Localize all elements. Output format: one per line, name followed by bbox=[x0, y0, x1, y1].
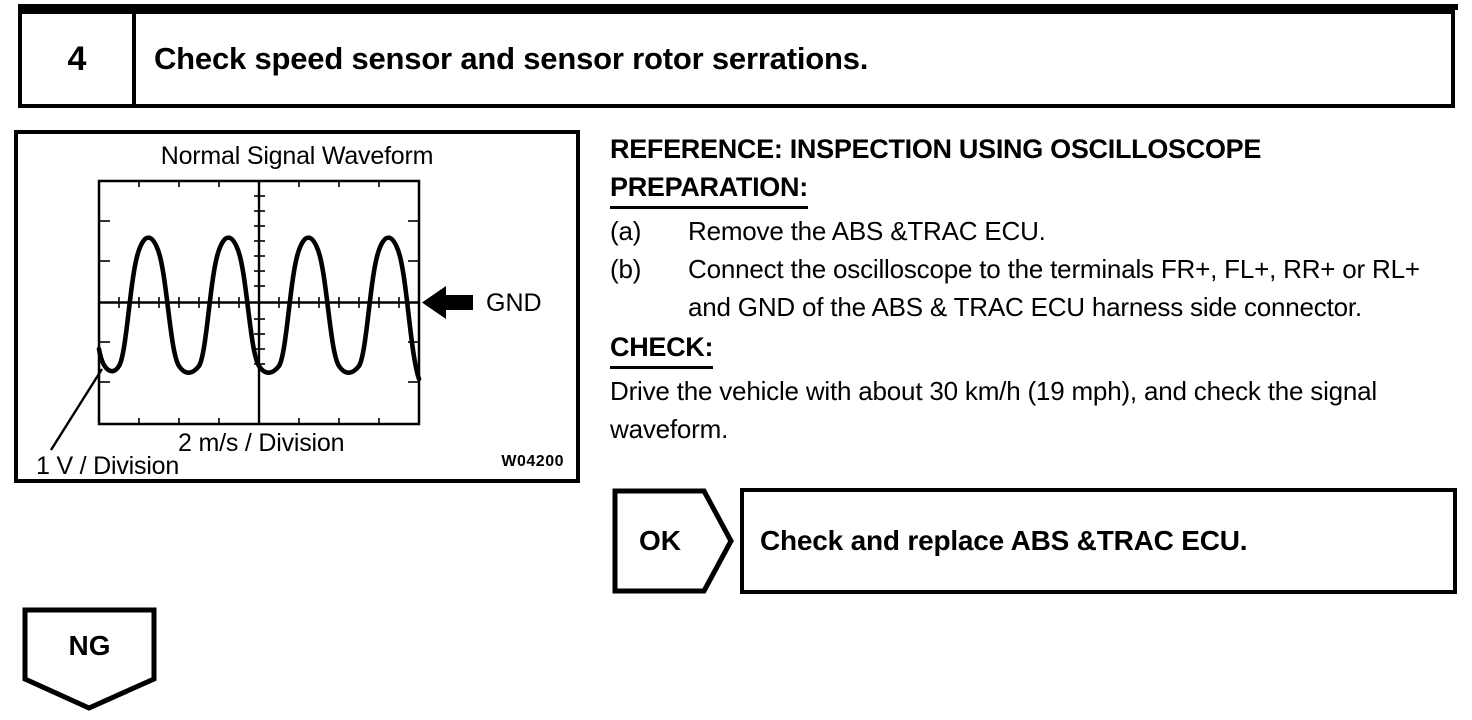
step-title-cell: Check speed sensor and sensor rotor serr… bbox=[136, 14, 1451, 104]
list-item: (b) Connect the oscilloscope to the term… bbox=[610, 250, 1468, 326]
step-number-cell: 4 bbox=[22, 14, 136, 104]
ok-result-box: Check and replace ABS &TRAC ECU. bbox=[740, 488, 1457, 594]
step-number: 4 bbox=[68, 40, 87, 79]
step-header: 4 Check speed sensor and sensor rotor se… bbox=[18, 10, 1455, 108]
check-heading-wrap: CHECK: bbox=[610, 328, 1468, 372]
gnd-label: GND bbox=[486, 289, 542, 318]
x-axis-label: 2 m/s / Division bbox=[178, 429, 344, 458]
ok-tag: OK bbox=[612, 488, 734, 594]
y-label-leader-line bbox=[51, 369, 102, 450]
ok-result-text: Check and replace ABS &TRAC ECU. bbox=[760, 525, 1247, 557]
ng-tag: NG bbox=[22, 607, 157, 712]
list-item: (a) Remove the ABS &TRAC ECU. bbox=[610, 212, 1468, 250]
check-heading: CHECK: bbox=[610, 328, 713, 369]
list-item-text: Connect the oscilloscope to the terminal… bbox=[688, 250, 1468, 326]
reference-column: REFERENCE: INSPECTION USING OSCILLOSCOPE… bbox=[610, 130, 1468, 448]
check-text: Drive the vehicle with about 30 km/h (19… bbox=[610, 372, 1468, 448]
waveform-figure: Normal Signal Waveform bbox=[14, 130, 580, 483]
preparation-heading: PREPARATION: bbox=[610, 168, 808, 209]
y-axis-label: 1 V / Division bbox=[36, 452, 179, 481]
list-item-text: Remove the ABS &TRAC ECU. bbox=[688, 212, 1468, 250]
list-item-label: (b) bbox=[610, 250, 688, 326]
ng-label: NG bbox=[22, 607, 157, 685]
ok-label: OK bbox=[612, 488, 708, 594]
figure-code: W04200 bbox=[501, 453, 564, 471]
step-title: Check speed sensor and sensor rotor serr… bbox=[154, 41, 868, 77]
ok-result-row: OK Check and replace ABS &TRAC ECU. bbox=[612, 488, 1457, 594]
list-item-label: (a) bbox=[610, 212, 688, 250]
preparation-heading-wrap: PREPARATION: bbox=[610, 168, 1468, 212]
gnd-arrow-icon bbox=[422, 286, 473, 319]
reference-heading: REFERENCE: INSPECTION USING OSCILLOSCOPE bbox=[610, 130, 1468, 168]
